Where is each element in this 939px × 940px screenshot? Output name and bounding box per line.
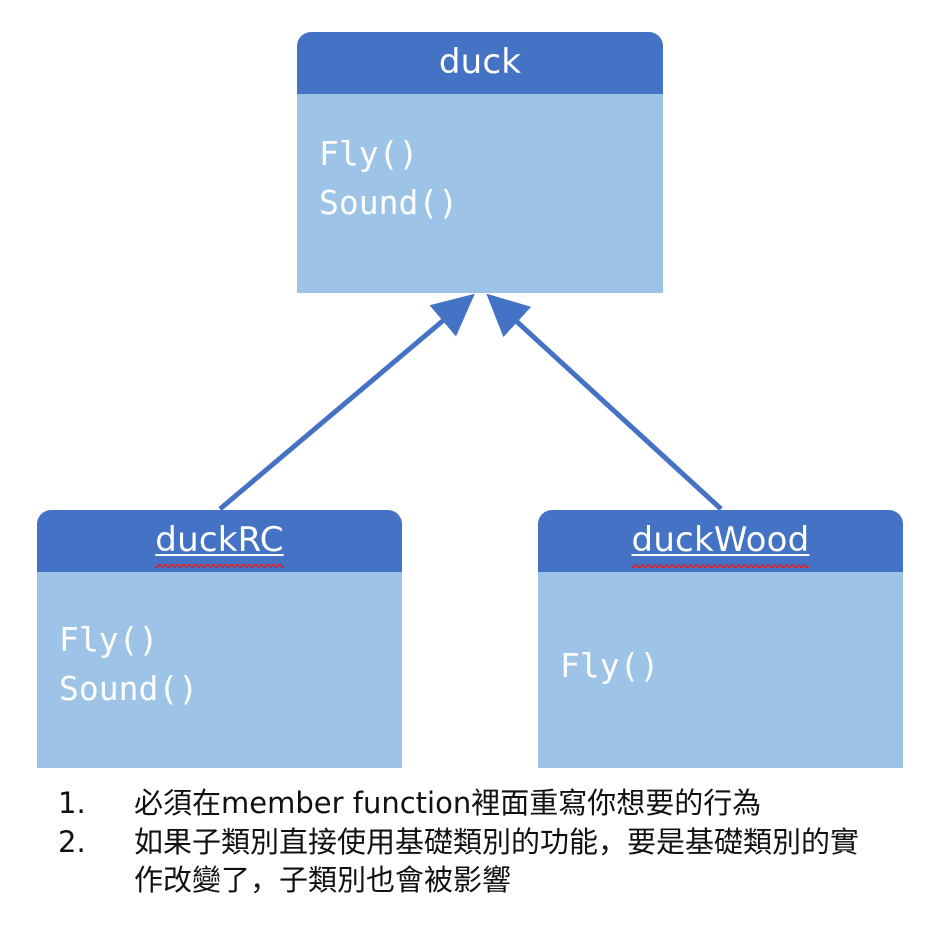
class-methods-duckwood: Fly() [538,572,903,768]
class-name-duckwood: duckWood [632,523,810,559]
notes-list: 1. 必須在member function裡面重寫你想要的行為 2. 如果子類別… [42,784,932,900]
class-methods-duck: Fly() Sound() [297,94,663,293]
class-name-duckrc: duckRC [155,523,283,559]
connector-duckrc-to-duck [220,297,471,509]
note-number: 1. [42,784,134,823]
class-header-duckwood: duckWood [538,510,903,572]
class-header-duck: duck [297,32,663,94]
note-body: 如果子類別直接使用基礎類別的功能，要是基礎類別的實作改變了，子類別也會被影響 [134,823,874,900]
diagram-canvas: duck Fly() Sound() duckRC Fly() Sound() … [0,0,939,940]
class-box-duckwood[interactable]: duckWood Fly() [538,510,903,768]
note-item: 2. 如果子類別直接使用基礎類別的功能，要是基礎類別的實作改變了，子類別也會被影… [42,823,932,900]
connector-duckwood-to-duck [490,297,721,509]
note-body: 必須在member function裡面重寫你想要的行為 [134,784,874,823]
class-name-duck: duck [439,45,521,81]
note-number: 2. [42,823,134,862]
class-methods-duckrc: Fly() Sound() [37,572,402,768]
class-box-duck[interactable]: duck Fly() Sound() [297,32,663,293]
class-box-duckrc[interactable]: duckRC Fly() Sound() [37,510,402,768]
class-header-duckrc: duckRC [37,510,402,572]
note-item: 1. 必須在member function裡面重寫你想要的行為 [42,784,932,823]
